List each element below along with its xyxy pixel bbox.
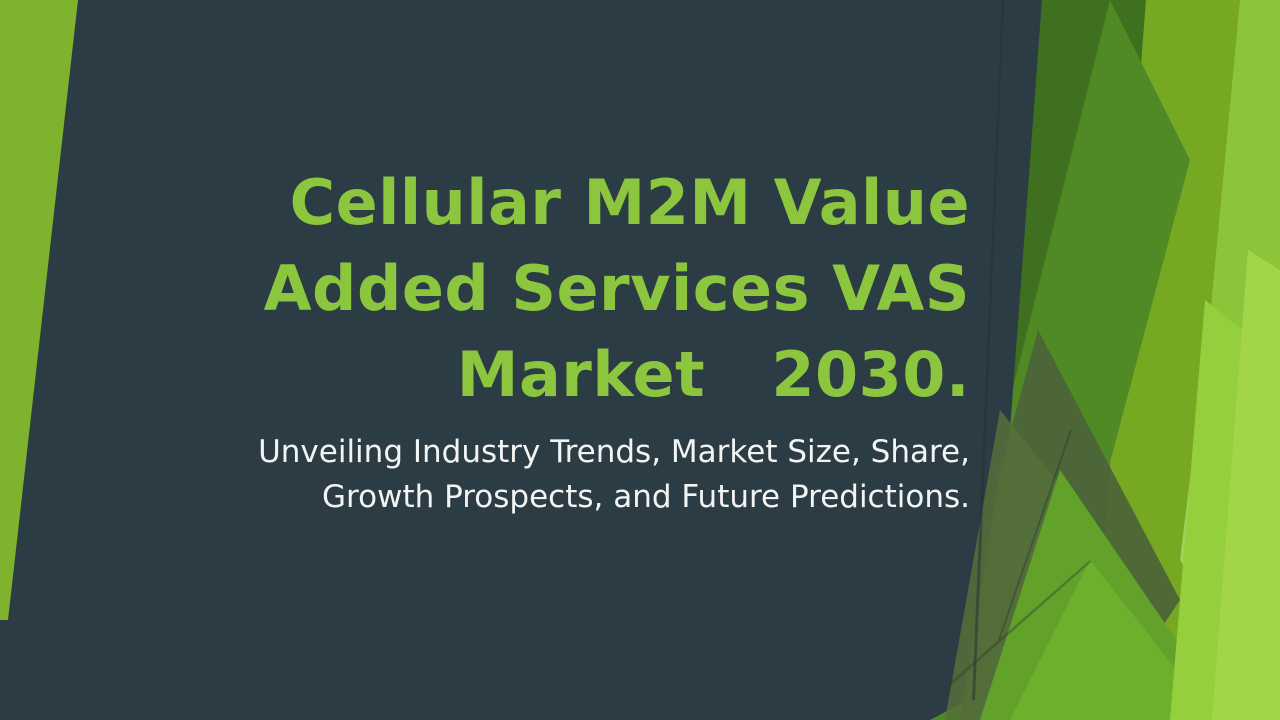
page-title[interactable]: Cellular M2M Value Added Services VAS Ma…: [150, 160, 970, 418]
slide-content: Cellular M2M Value Added Services VAS Ma…: [0, 0, 1280, 720]
subtitle-line-1: Unveiling Industry Trends, Market Size, …: [150, 430, 970, 475]
title-line-3: Market 2030.: [150, 332, 970, 418]
subtitle-line-2: Growth Prospects, and Future Predictions…: [150, 475, 970, 520]
slide-subtitle[interactable]: Unveiling Industry Trends, Market Size, …: [150, 430, 970, 520]
title-line-2: Added Services VAS: [150, 246, 970, 332]
title-line-1: Cellular M2M Value: [150, 160, 970, 246]
title-slide: Cellular M2M Value Added Services VAS Ma…: [0, 0, 1280, 720]
